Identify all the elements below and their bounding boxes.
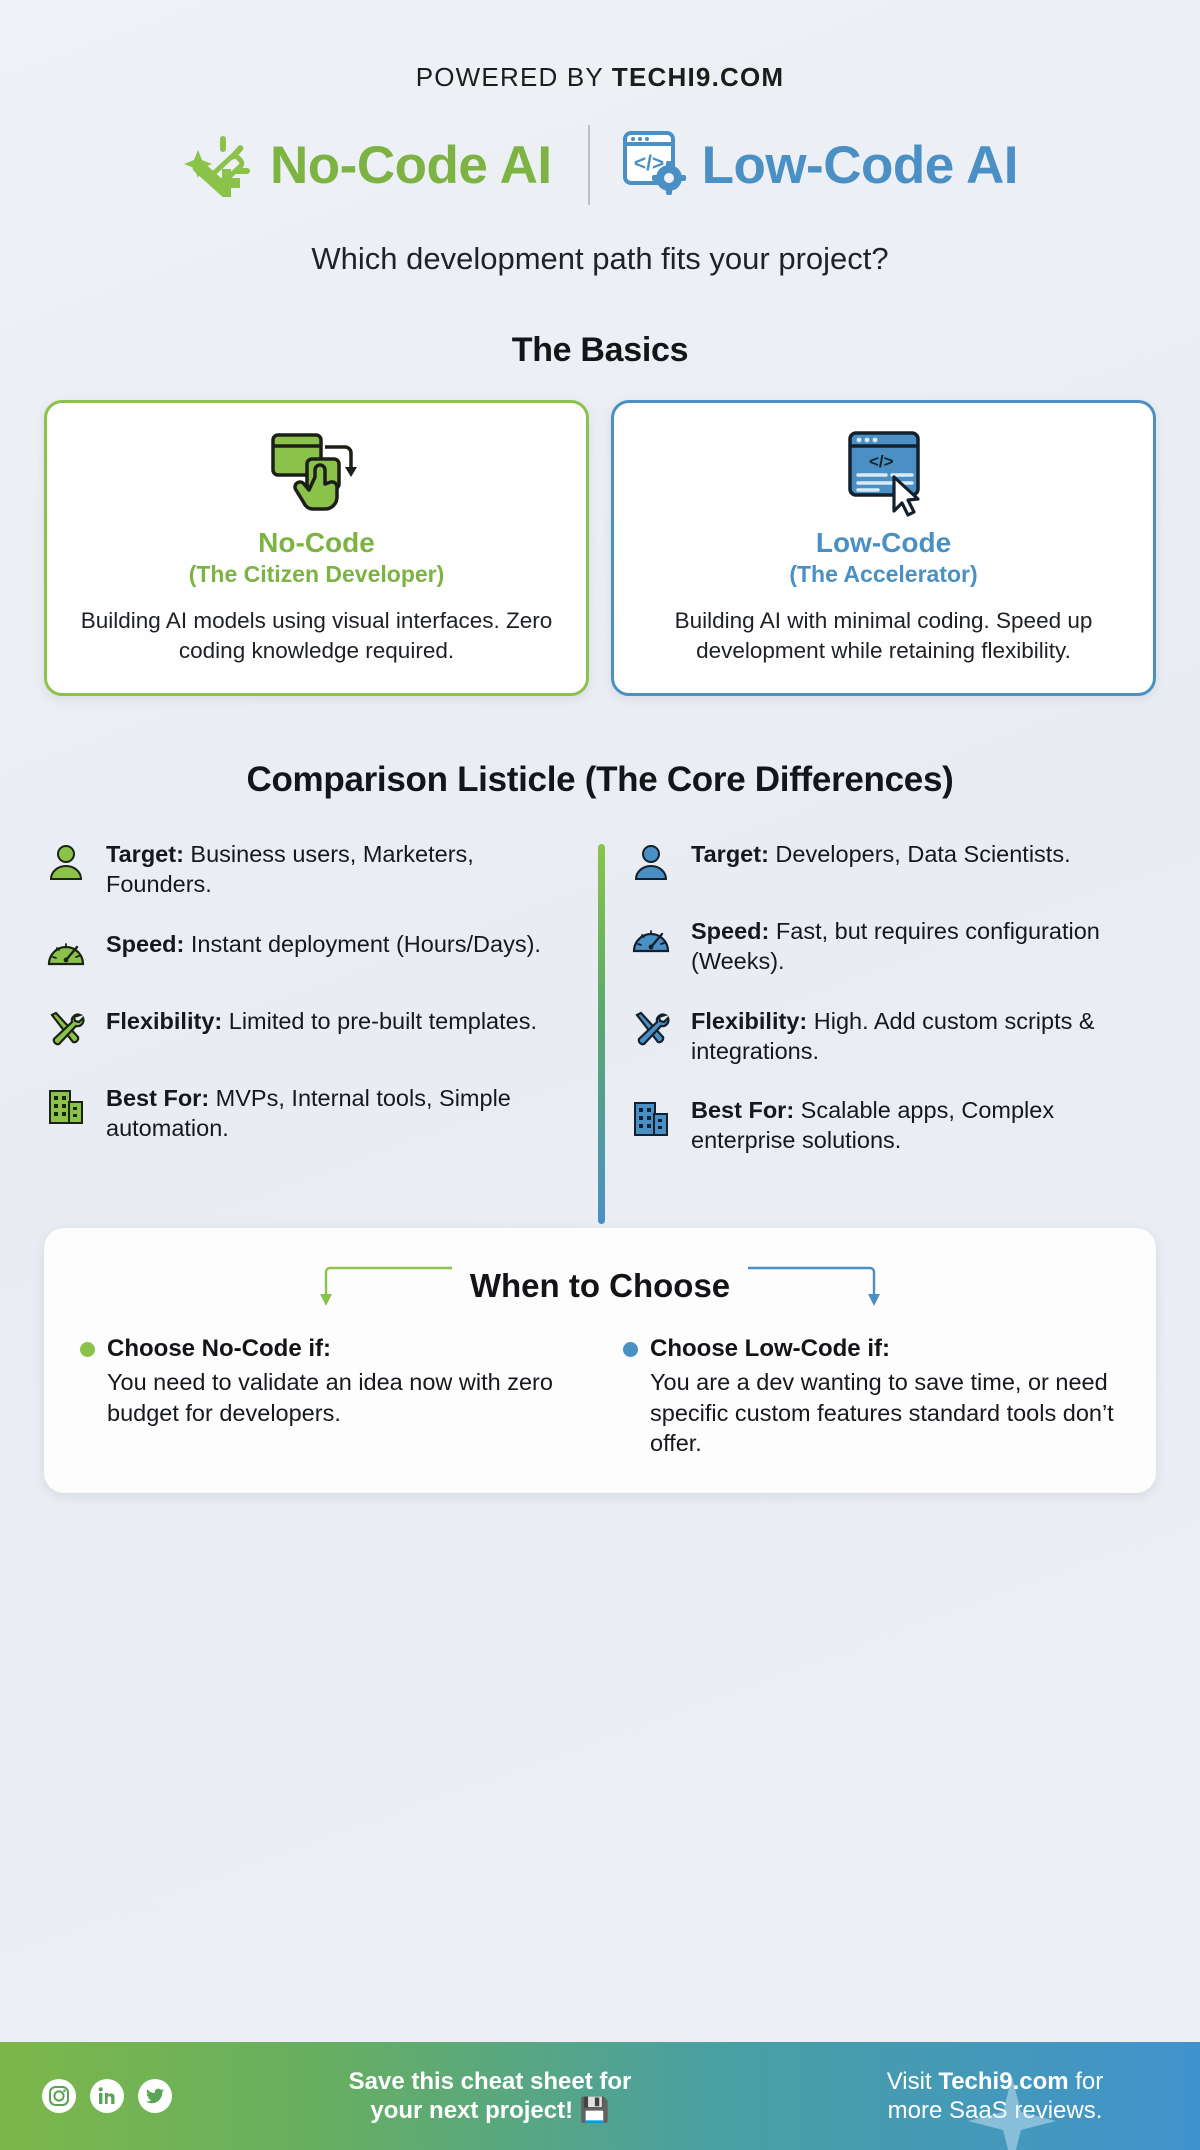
comparison-left-column: Target: Business users, Marketers, Found… <box>46 840 587 1186</box>
list-item: Best For: MVPs, Internal tools, Simple a… <box>46 1084 561 1144</box>
person-icon <box>46 840 90 887</box>
footer-center-text: Save this cheat sheet for your next proj… <box>172 2067 808 2126</box>
list-item-label: Flexibility: <box>106 1008 222 1034</box>
when-to-choose-right-header: Choose Low-Code if: <box>623 1335 1120 1363</box>
basics-card-description: Building AI models using visual interfac… <box>71 606 562 665</box>
list-item-text: Speed: Instant deployment (Hours/Days). <box>106 930 541 960</box>
footer-center-line1: Save this cheat sheet for <box>172 2067 808 2096</box>
header-subtitle: Which development path fits your project… <box>0 241 1200 277</box>
basics-card-subtitle: (The Accelerator) <box>638 561 1129 588</box>
when-to-choose-left: Choose No-Code if: You need to validate … <box>80 1335 595 1459</box>
list-item-label: Best For: <box>106 1085 209 1111</box>
list-item-label: Speed: <box>106 931 184 957</box>
list-item: Target: Business users, Marketers, Found… <box>46 840 561 900</box>
twitter-icon[interactable] <box>138 2079 172 2113</box>
list-item: Best For: Scalable apps, Complex enterpr… <box>631 1096 1146 1156</box>
list-item-text: Target: Developers, Data Scientists. <box>691 840 1071 870</box>
infographic-page: POWERED BY TECHI9.COM <box>0 0 1200 2150</box>
basics-cards: No-Code (The Citizen Developer) Building… <box>0 400 1200 696</box>
tools-icon <box>46 1007 90 1054</box>
powered-by-prefix: POWERED BY <box>416 62 612 92</box>
basics-card-no-code: No-Code (The Citizen Developer) Building… <box>44 400 589 696</box>
list-item-label: Best For: <box>691 1097 794 1123</box>
list-item-text: Best For: MVPs, Internal tools, Simple a… <box>106 1084 561 1144</box>
instagram-icon[interactable] <box>42 2079 76 2113</box>
list-item-text: Best For: Scalable apps, Complex enterpr… <box>691 1096 1146 1156</box>
drag-drop-hand-icon <box>71 427 562 519</box>
comparison-heading: Comparison Listicle (The Core Difference… <box>0 760 1200 800</box>
when-to-choose-right: Choose Low-Code if: You are a dev wantin… <box>595 1335 1120 1459</box>
list-item-label: Target: <box>691 841 769 867</box>
when-to-choose-columns: Choose No-Code if: You need to validate … <box>80 1335 1120 1459</box>
comparison-right-column: Target: Developers, Data Scientists. Spe… <box>587 840 1154 1186</box>
footer-right-prefix: Visit <box>887 2068 939 2095</box>
list-item: Speed: Fast, but requires configuration … <box>631 917 1146 977</box>
when-to-choose-box: When to Choose Choose No-Code if: You ne… <box>44 1228 1156 1493</box>
comparison-divider <box>598 844 605 1224</box>
basics-card-title: No-Code <box>71 527 562 559</box>
list-item-value: Instant deployment (Hours/Days). <box>184 931 541 957</box>
list-item-text: Flexibility: High. Add custom scripts & … <box>691 1007 1146 1067</box>
when-to-choose-header: When to Choose <box>80 1258 1120 1313</box>
when-to-choose-right-body: You are a dev wanting to save time, or n… <box>623 1367 1120 1459</box>
when-to-choose-right-label: Choose Low-Code if: <box>650 1335 890 1363</box>
bullet-dot-icon <box>623 1342 638 1357</box>
person-icon <box>631 840 675 887</box>
linkedin-icon[interactable] <box>90 2079 124 2113</box>
list-item-value: Developers, Data Scientists. <box>769 841 1071 867</box>
header-left-title: No-Code AI <box>270 135 552 196</box>
header-left-group: No-Code AI <box>182 128 588 203</box>
list-item-text: Speed: Fast, but requires configuration … <box>691 917 1146 977</box>
building-icon <box>631 1096 675 1143</box>
list-item-text: Target: Business users, Marketers, Found… <box>106 840 561 900</box>
basics-card-subtitle: (The Citizen Developer) <box>71 561 562 588</box>
list-item: Flexibility: Limited to pre-built templa… <box>46 1007 561 1054</box>
arrow-left-down-icon <box>306 1258 454 1313</box>
when-to-choose-left-label: Choose No-Code if: <box>107 1335 331 1363</box>
footer-center-line2: your next project! 💾 <box>172 2096 808 2125</box>
footer-social-links <box>0 2079 172 2113</box>
header-right-group: </> Low-Code AI <box>590 130 1018 201</box>
header-right-title: Low-Code AI <box>702 135 1018 196</box>
basics-card-low-code: </> Low-Code (The Accelerator) Building … <box>611 400 1156 696</box>
magic-wand-icon <box>182 128 256 203</box>
tools-icon <box>631 1007 675 1054</box>
svg-text:</>: </> <box>869 452 894 471</box>
list-item: Speed: Instant deployment (Hours/Days). <box>46 930 561 977</box>
building-icon <box>46 1084 90 1131</box>
when-to-choose-left-body: You need to validate an idea now with ze… <box>80 1367 577 1428</box>
list-item: Flexibility: High. Add custom scripts & … <box>631 1007 1146 1067</box>
basics-card-title: Low-Code <box>638 527 1129 559</box>
comparison-columns: Target: Business users, Marketers, Found… <box>0 840 1200 1186</box>
list-item-text: Flexibility: Limited to pre-built templa… <box>106 1007 537 1037</box>
powered-by-brand: TECHI9.COM <box>612 62 784 92</box>
powered-by-line: POWERED BY TECHI9.COM <box>0 0 1200 93</box>
footer-spark-icon <box>966 2075 1058 2150</box>
list-item: Target: Developers, Data Scientists. <box>631 840 1146 887</box>
when-to-choose-left-header: Choose No-Code if: <box>80 1335 577 1363</box>
footer-right-suffix: for <box>1069 2068 1104 2095</box>
footer-right-text: Visit Techi9.com for more SaaS reviews. <box>808 2067 1200 2126</box>
bullet-dot-icon <box>80 1342 95 1357</box>
arrow-right-down-icon <box>746 1258 894 1313</box>
basics-card-description: Building AI with minimal coding. Speed u… <box>638 606 1129 665</box>
speedometer-icon <box>631 917 675 964</box>
code-editor-cursor-icon: </> <box>638 427 1129 519</box>
list-item-label: Target: <box>106 841 184 867</box>
list-item-label: Flexibility: <box>691 1008 807 1034</box>
header-title-row: No-Code AI </> <box>0 125 1200 205</box>
footer-bar: Save this cheat sheet for your next proj… <box>0 2042 1200 2150</box>
basics-heading: The Basics <box>0 331 1200 370</box>
code-window-gear-icon: </> <box>622 130 688 201</box>
list-item-value: Limited to pre-built templates. <box>222 1008 537 1034</box>
speedometer-icon <box>46 930 90 977</box>
when-to-choose-title: When to Choose <box>454 1267 746 1305</box>
list-item-label: Speed: <box>691 918 769 944</box>
